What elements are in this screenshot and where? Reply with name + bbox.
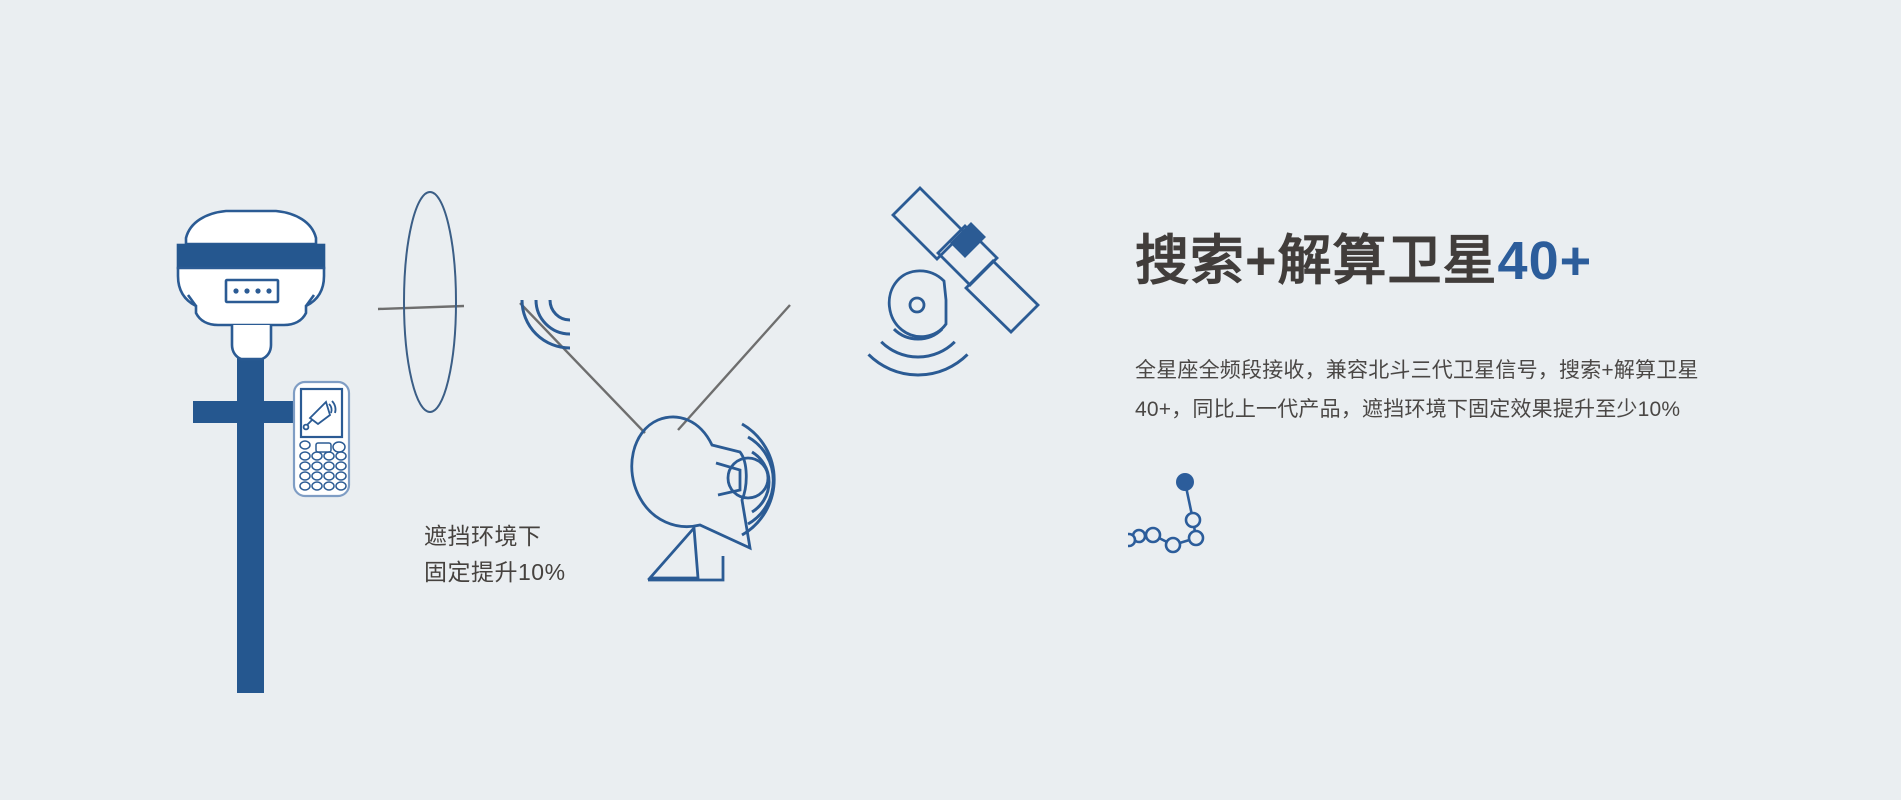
obstruction-ellipse [404,192,456,412]
satellite-band [952,224,984,256]
dish-feed-circle [728,458,768,498]
led-dot [233,288,238,293]
connector-waves-to-dish [520,303,645,433]
led-dot [266,288,271,293]
connector-lines [378,303,790,433]
led-dot [255,288,260,293]
connector-dish-to-satellite [678,305,790,430]
handheld-controller [294,382,349,496]
ground-station-dish [632,417,774,580]
satellite-dish-feed [910,298,924,312]
node-chain-graphic [1128,470,1258,565]
headline-accent: 40+ [1498,231,1593,291]
satellite [869,188,1038,404]
receiver-blue-band [178,245,324,268]
gnss-receiver [178,211,324,359]
node-dot-filled [1176,473,1194,491]
node-dot [1186,513,1200,527]
receiver-neck [232,325,271,359]
satellite-signal-waves [869,305,968,404]
caption-line-2: 固定提升10% [424,554,566,590]
illustration-caption: 遮挡环境下 固定提升10% [424,518,566,591]
wave-arc-inner [550,300,570,320]
signal-waves-left [522,300,570,348]
satellite-solar-panel-left [893,188,964,259]
promo-banner: 遮挡环境下 固定提升10% 搜索+解算卫星40+ 全星座全频段接收，兼容北斗三代… [0,0,1901,800]
connector-ellipse-to-waves [378,306,464,309]
node-dot [1146,528,1160,542]
caption-line-1: 遮挡环境下 [424,518,566,554]
satellite-dish [889,271,946,337]
satellite-wave-outer [869,305,968,404]
page-title: 搜索+解算卫星40+ [1135,232,1775,290]
dish-base [650,528,698,578]
pole-crossbar [193,401,306,423]
headline-main: 搜索+解算卫星 [1135,231,1498,291]
dish-reflector [632,417,750,548]
text-column: 搜索+解算卫星40+ 全星座全频段接收，兼容北斗三代卫星信号，搜索+解算卫星40… [1135,232,1775,429]
node-dot [1128,534,1135,546]
led-dot [244,288,249,293]
description-text: 全星座全频段接收，兼容北斗三代卫星信号，搜索+解算卫星40+，同比上一代产品，遮… [1135,290,1750,428]
node-dot [1189,531,1203,545]
wave-arc-middle [536,300,570,334]
receiver-dome-outline [186,211,316,244]
gnss-illustration [0,0,1060,800]
node-dot [1166,538,1180,552]
satellite-solar-panel-right [966,261,1038,332]
